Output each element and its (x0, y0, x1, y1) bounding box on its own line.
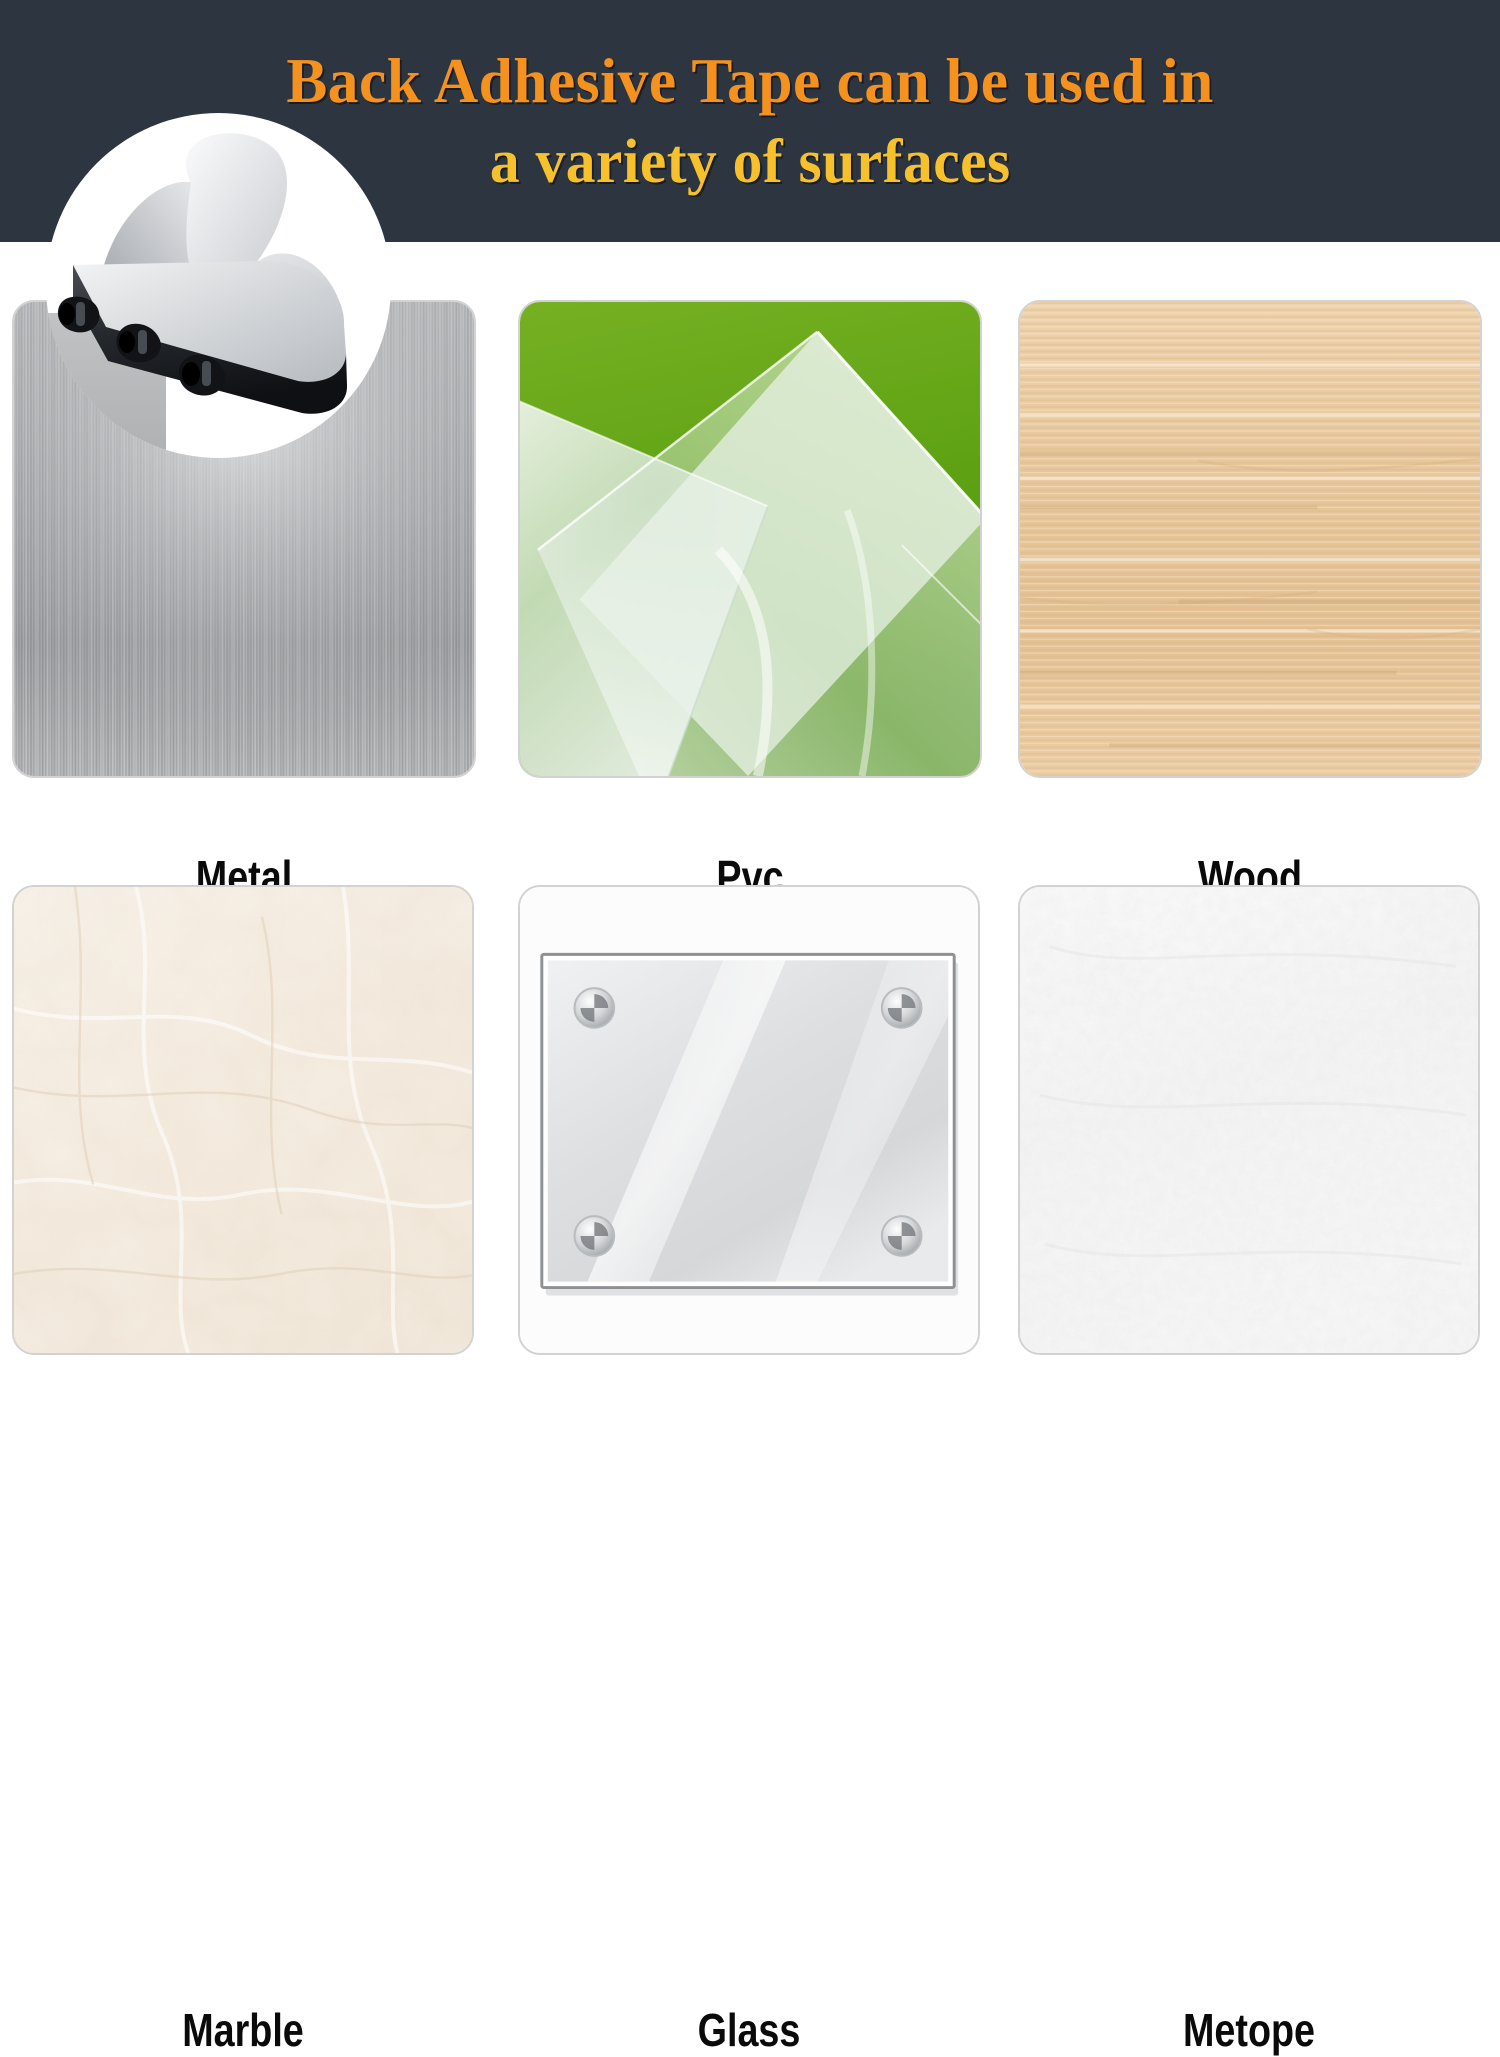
adhesive-hook-icon (46, 113, 391, 458)
glass-panel-with-standoffs-icon (520, 887, 978, 1353)
pvc-swatch (518, 300, 982, 778)
light-wood-plank-icon (1020, 302, 1480, 776)
marble-swatch (12, 885, 474, 1355)
surface-label-marble: Marble (54, 2003, 433, 2057)
headline-line-2: a variety of surfaces (490, 131, 1011, 193)
white-plaster-wall-icon (1020, 887, 1478, 1353)
surface-card-marble[interactable]: Marble (12, 885, 474, 1355)
surface-card-pvc[interactable]: Pvc (518, 300, 982, 778)
surface-label-metope: Metope (1060, 2003, 1439, 2057)
glass-swatch (518, 885, 980, 1355)
headline-line-1: Back Adhesive Tape can be used in (286, 49, 1213, 113)
cream-marble-icon (14, 887, 472, 1353)
surface-card-glass[interactable]: Glass (518, 885, 980, 1355)
metope-swatch (1018, 885, 1480, 1355)
surface-label-glass: Glass (560, 2003, 939, 2057)
surface-card-wood[interactable]: Wood (1018, 300, 1482, 778)
clear-pvc-sheet-icon (520, 302, 980, 776)
product-inset-circle (46, 113, 391, 458)
wood-swatch (1018, 300, 1482, 778)
surface-card-metope[interactable]: Metope (1018, 885, 1480, 1355)
